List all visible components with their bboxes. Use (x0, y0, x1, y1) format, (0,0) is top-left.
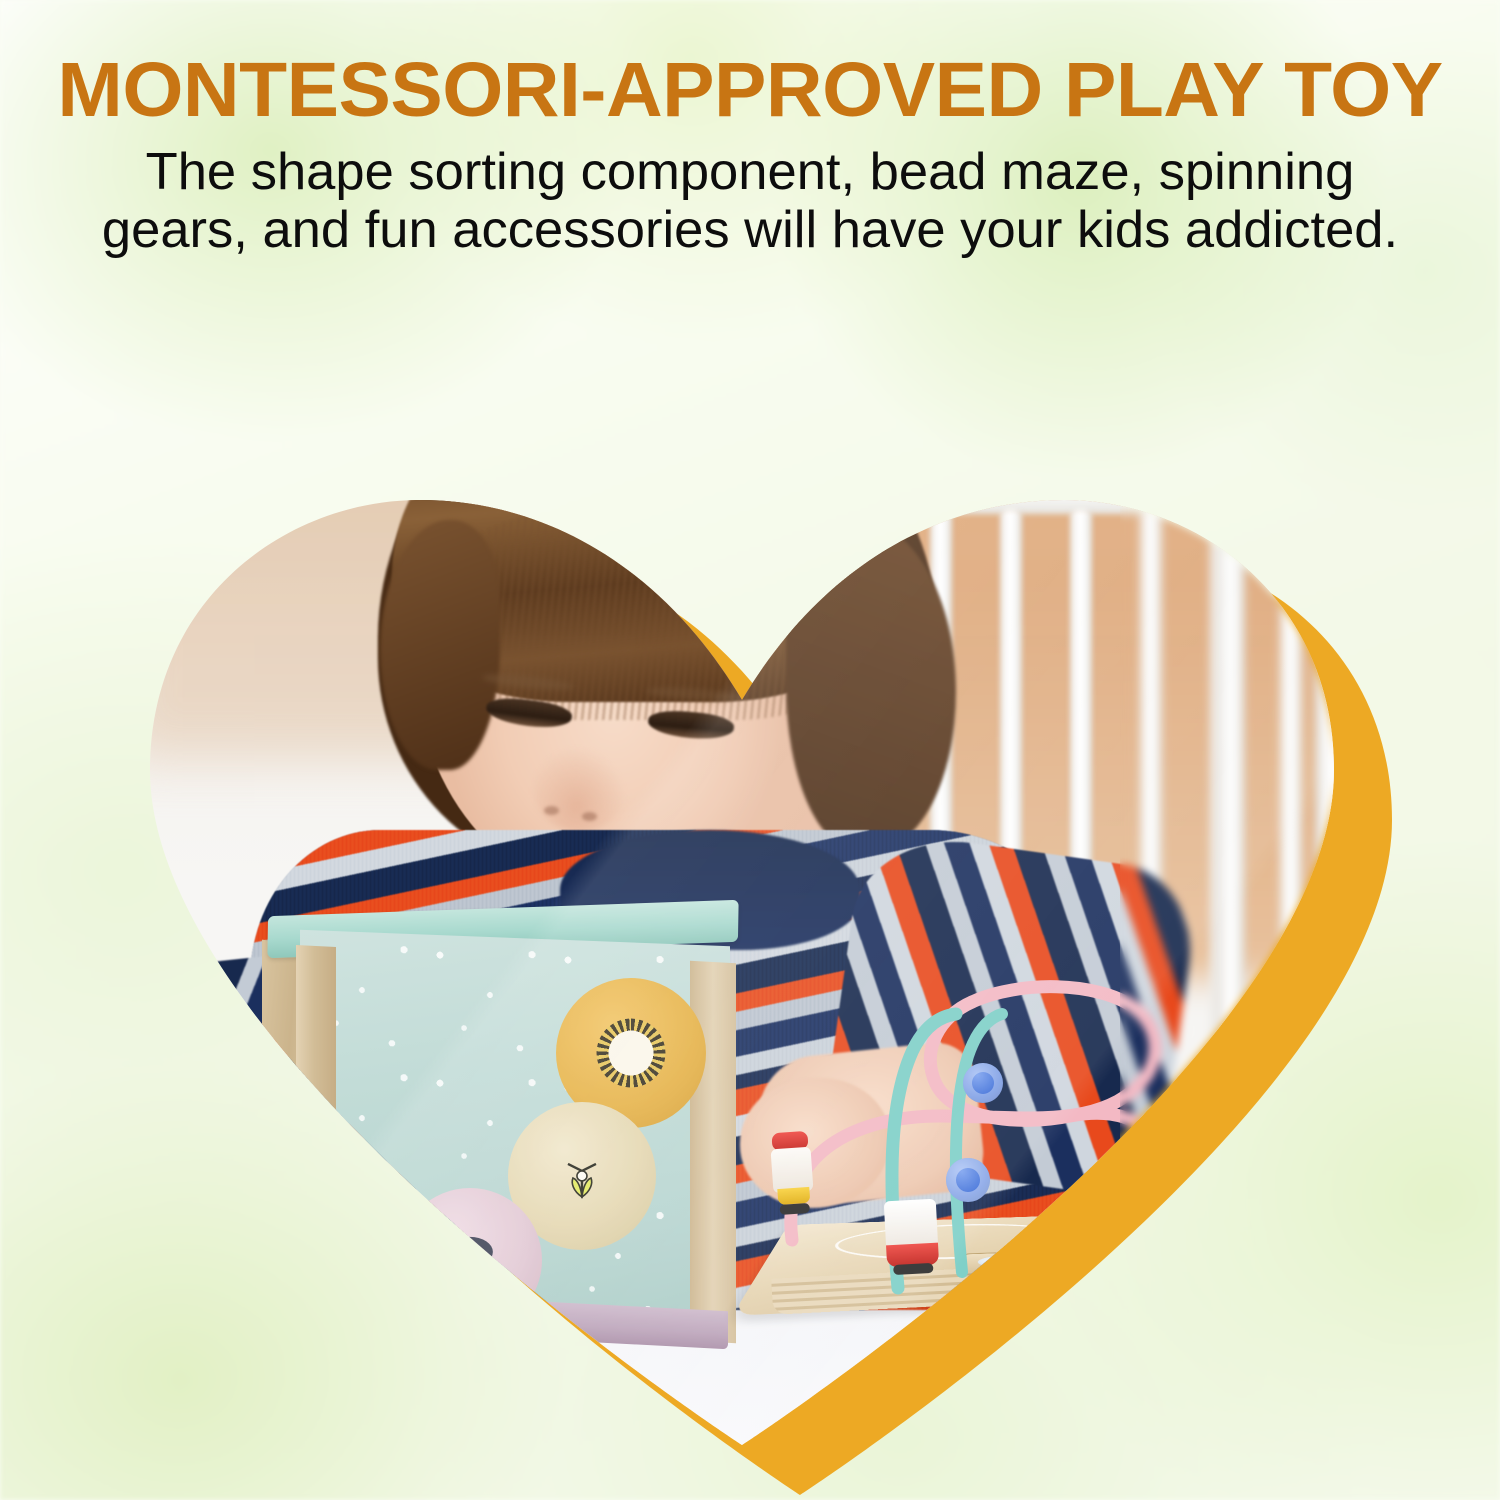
center-block-bead (884, 1199, 939, 1252)
page-subtitle: The shape sorting component, bead maze, … (0, 143, 1500, 259)
page-title: MONTESSORI-APPROVED PLAY TOY (0, 52, 1500, 129)
child-nose (534, 748, 626, 832)
lion-face-icon (597, 1019, 666, 1088)
gear-hub (548, 1142, 616, 1210)
bead-foot (893, 1263, 933, 1275)
child-nostril (582, 812, 597, 821)
subtitle-line-2: gears, and fun accessories will have you… (63, 201, 1437, 259)
flower-icon (551, 1145, 613, 1207)
headline-block: MONTESSORI-APPROVED PLAY TOY The shape s… (0, 0, 1500, 259)
animal-block-bead (771, 1147, 814, 1194)
child-nostril (544, 806, 559, 815)
blue-spiral-bead-lower (946, 1158, 990, 1202)
bead-foot (779, 1203, 810, 1215)
gear-hub (597, 1019, 666, 1088)
blue-spiral-bead-upper (963, 1063, 1003, 1103)
subtitle-line-1: The shape sorting component, bead maze, … (63, 143, 1437, 201)
wire-teal-right (956, 1014, 1002, 1272)
